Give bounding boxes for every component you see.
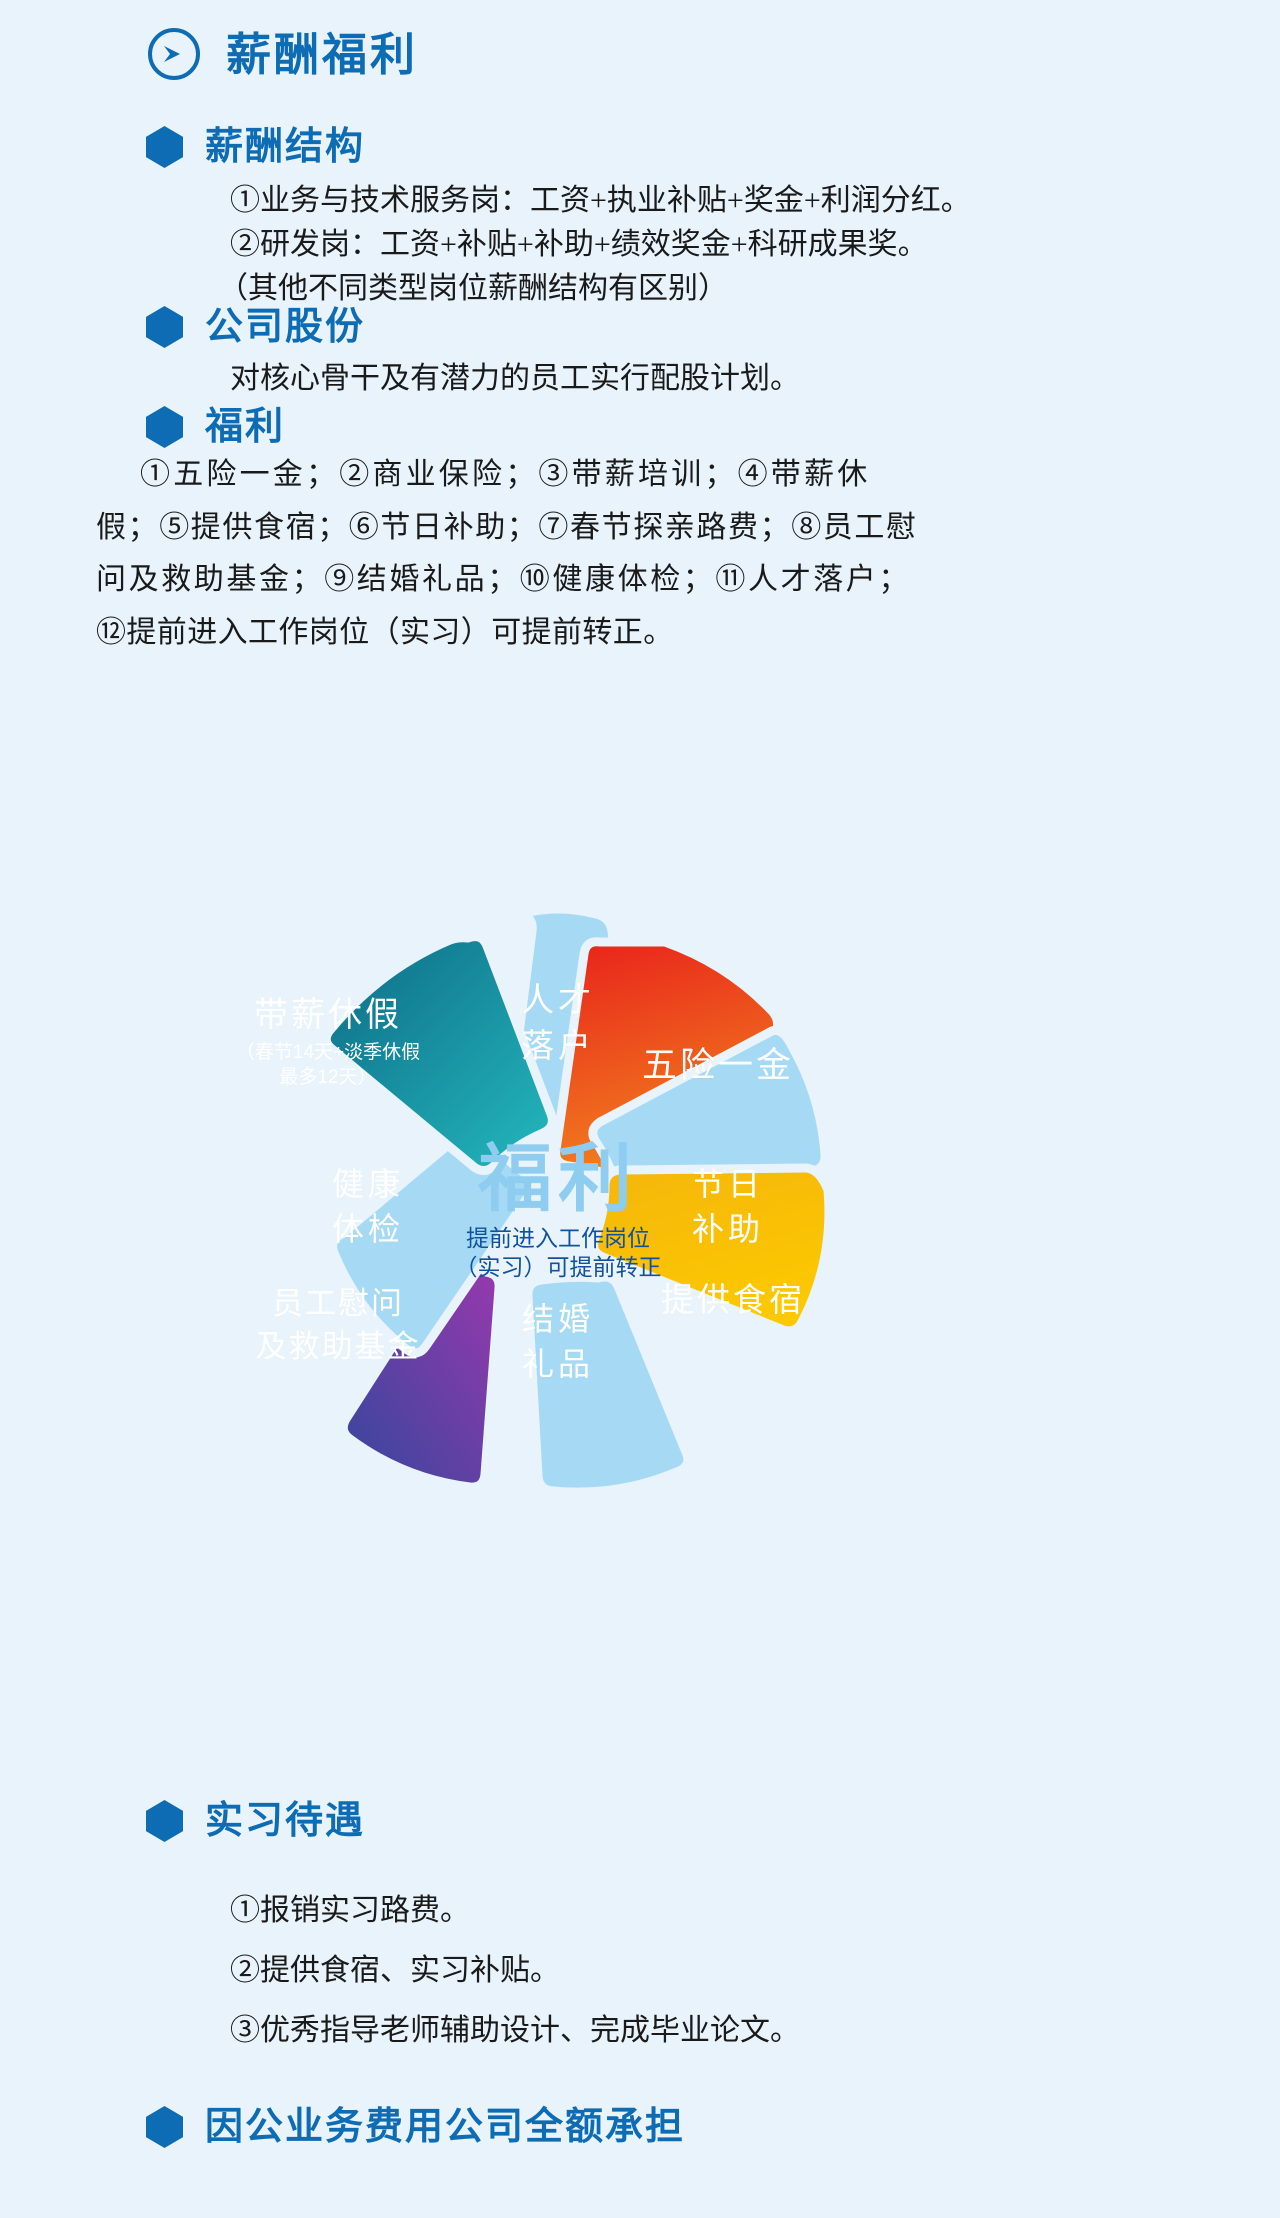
arrow-circle-icon [148,28,200,80]
hexagon-bullet-icon [146,406,183,448]
section-heading-company-shares: 公司股份 [146,306,365,348]
section-heading-text: 福利 [205,408,285,446]
section-heading-salary-structure: 薪酬结构 [146,126,365,168]
section-heading-text: 实习待遇 [205,1802,365,1840]
section-heading-text: 公司股份 [205,308,365,346]
page-title-text: 薪酬福利 [226,32,418,77]
hexagon-bullet-icon [146,126,183,168]
petal-paid-leave [326,937,552,1171]
benefits-line-2: 假；⑤提供食宿；⑥节日补助；⑦春节探亲路费；⑧员工慰 [96,507,836,550]
section-heading-text: 因公业务费用公司全额承担 [205,2108,685,2146]
benefits-line-4: ⑫提前进入工作岗位（实习）可提前转正。 [96,612,836,655]
section-heading-text: 薪酬结构 [205,128,365,166]
salary-structure-line-3: （其他不同类型岗位薪酬结构有区别） [218,268,728,311]
intern-treatment-line-2: ②提供食宿、实习补贴。 [230,1950,560,1993]
page-title: 薪酬福利 [148,28,418,80]
page-root: 薪酬福利 薪酬结构 ①业务与技术服务岗：工资+执业补贴+奖金+利润分红。 ②研发… [0,0,1280,2218]
salary-structure-line-1: ①业务与技术服务岗：工资+执业补贴+奖金+利润分红。 [230,180,971,223]
intern-treatment-line-1: ①报销实习路费。 [230,1890,470,1933]
petal-wedding-gift [528,1277,688,1492]
company-shares-line-1: 对核心骨干及有潜力的员工实行配股计划。 [230,358,800,401]
hexagon-bullet-icon [146,2106,183,2148]
intern-treatment-line-3: ③优秀指导老师辅助设计、完成毕业论文。 [230,2010,800,2053]
benefits-line-1: ①五险一金；②商业保险；③带薪培训；④带薪休 [96,454,836,497]
benefits-paragraph: ①五险一金；②商业保险；③带薪培训；④带薪休 假；⑤提供食宿；⑥节日补助；⑦春节… [96,454,836,654]
salary-structure-line-2: ②研发岗：工资+补贴+补助+绩效奖金+科研成果奖。 [230,224,928,267]
section-heading-benefits: 福利 [146,406,285,448]
section-heading-intern-treatment: 实习待遇 [146,1800,365,1842]
hexagon-bullet-icon [146,306,183,348]
benefits-petal-diagram: 带薪休假 （春节14天+淡季休假 最多12天） 人才 落户 五险一金 节日 补助… [168,880,948,1520]
benefits-line-3: 问及救助基金；⑨结婚礼品；⑩健康体检；⑪人才落户； [96,559,836,602]
section-heading-business-expense: 因公业务费用公司全额承担 [146,2106,685,2148]
hexagon-bullet-icon [146,1800,183,1842]
